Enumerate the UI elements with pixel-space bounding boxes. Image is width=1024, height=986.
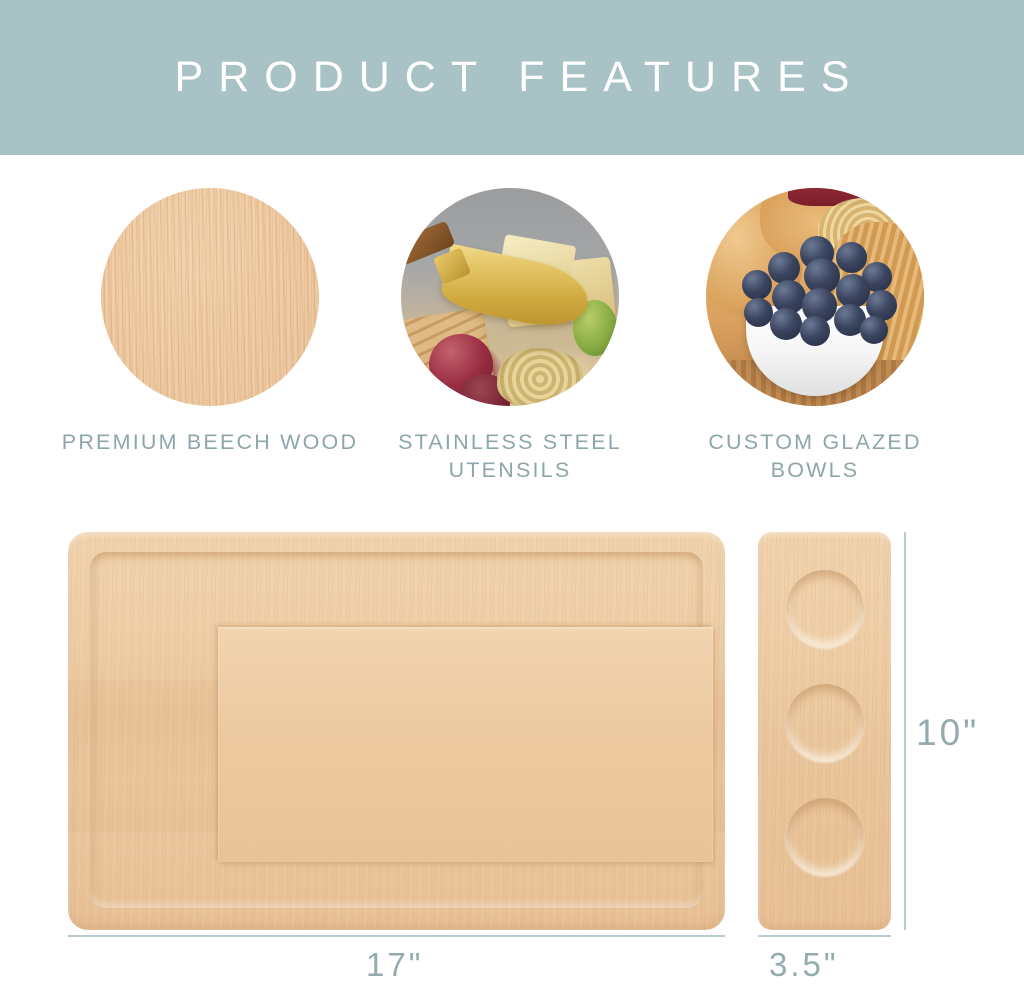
bowl-well-3 bbox=[786, 798, 864, 876]
walnut-shape bbox=[497, 348, 583, 406]
feature-caption: STAINLESS STEEL UTENSILS bbox=[360, 428, 660, 485]
blueberry-bowl-photo-image bbox=[706, 188, 924, 406]
beech-wood-disc-image bbox=[101, 188, 319, 406]
header-band: PRODUCT FEATURES bbox=[0, 0, 1024, 155]
feature-list: PREMIUM BEECH WOOD STAINLESS STEEL UTENS… bbox=[0, 155, 1024, 505]
bowl-well-2 bbox=[786, 684, 864, 762]
blueberry bbox=[744, 298, 773, 327]
blueberry bbox=[836, 242, 867, 273]
blueberry bbox=[800, 316, 830, 346]
feature-item-stainless-steel-utensils: STAINLESS STEEL UTENSILS bbox=[360, 188, 660, 485]
dimension-line-tray-height bbox=[904, 532, 906, 930]
dimension-label-tray-height: 10" bbox=[916, 714, 979, 751]
board-inner-panel bbox=[218, 627, 713, 862]
dimension-line-board-width bbox=[68, 935, 725, 937]
blueberry bbox=[860, 316, 888, 344]
feature-item-custom-glazed-bowls: CUSTOM GLAZED BOWLS bbox=[665, 188, 965, 485]
bowl-well-1 bbox=[786, 570, 864, 648]
page-title: PRODUCT FEATURES bbox=[160, 56, 865, 99]
dimension-line-tray-width bbox=[758, 935, 891, 937]
blueberry bbox=[770, 308, 802, 340]
blueberry bbox=[836, 274, 870, 308]
feature-caption: CUSTOM GLAZED BOWLS bbox=[665, 428, 965, 485]
feature-caption: PREMIUM BEECH WOOD bbox=[60, 428, 360, 456]
blueberries-group bbox=[740, 236, 890, 332]
bowl-tray-illustration bbox=[758, 532, 891, 930]
dimension-label-tray-width: 3.5" bbox=[769, 948, 839, 981]
blueberry bbox=[768, 252, 800, 284]
blueberry bbox=[742, 270, 772, 300]
cheese-knife-photo-image bbox=[401, 188, 619, 406]
serving-board-illustration bbox=[68, 532, 725, 930]
product-dimension-diagram: 17" 3.5" 10" bbox=[0, 505, 1024, 986]
feature-item-premium-beech-wood: PREMIUM BEECH WOOD bbox=[60, 188, 360, 456]
dimension-label-board-width: 17" bbox=[366, 948, 423, 981]
